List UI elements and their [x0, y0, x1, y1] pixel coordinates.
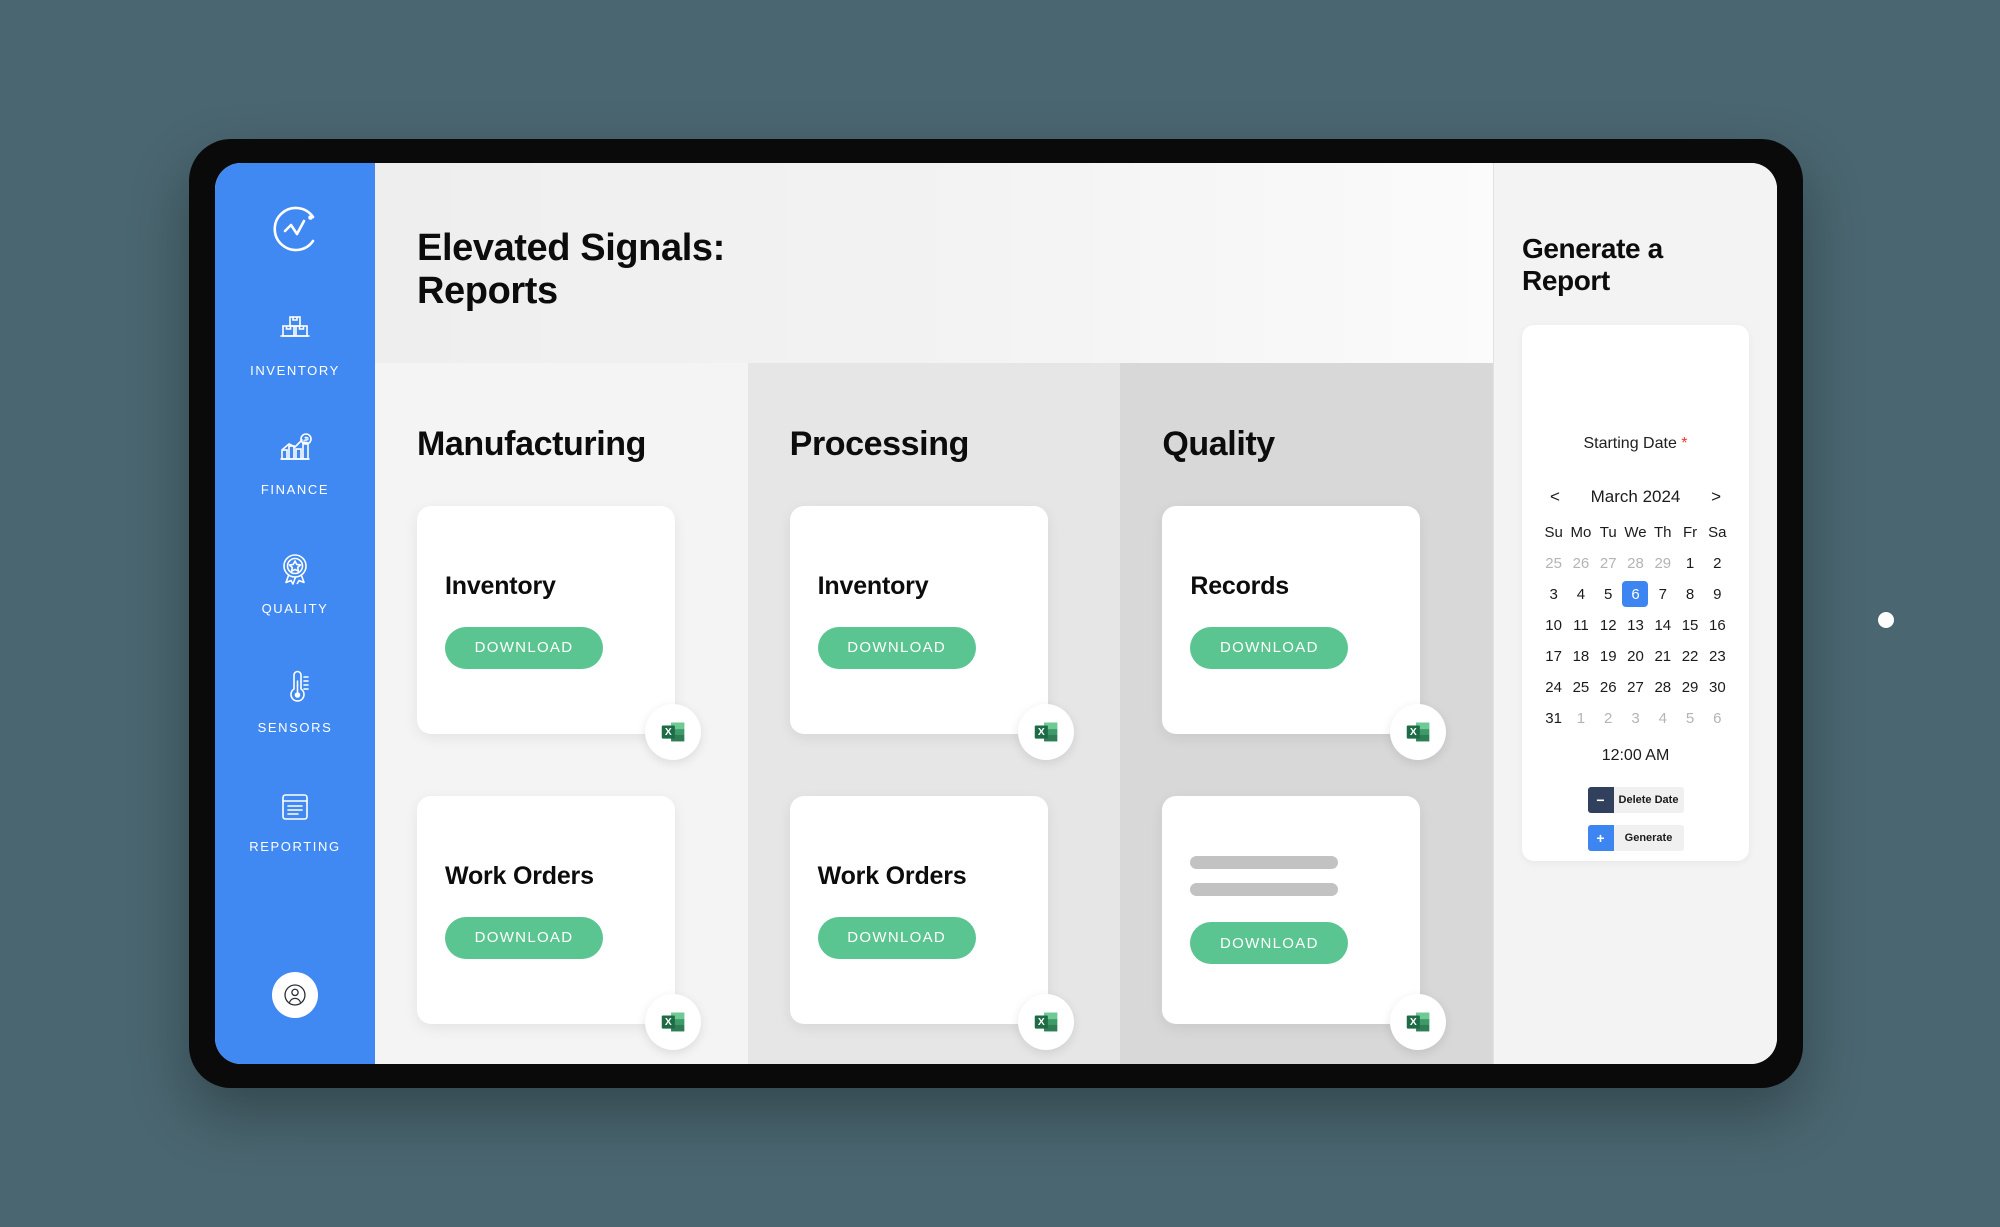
excel-file-icon[interactable]: X: [1390, 704, 1446, 760]
day-of-week-header: Mo: [1567, 519, 1594, 545]
calendar-day[interactable]: 18: [1567, 643, 1594, 669]
report-card-work-orders[interactable]: Work Orders DOWNLOAD: [790, 796, 1048, 1024]
report-card-records[interactable]: Records DOWNLOAD: [1162, 506, 1420, 734]
day-of-week-header: Fr: [1676, 519, 1703, 545]
calendar-day[interactable]: 3: [1622, 705, 1649, 731]
svg-text:X: X: [665, 1017, 672, 1028]
boxes-icon: [273, 309, 317, 353]
minus-icon: −: [1588, 787, 1614, 813]
calendar-day[interactable]: 5: [1595, 581, 1622, 607]
excel-file-icon[interactable]: X: [1018, 704, 1074, 760]
sidebar-item-sensors[interactable]: SENSORS: [215, 666, 375, 735]
document-lines-icon: [273, 785, 317, 829]
excel-file-icon[interactable]: X: [645, 704, 701, 760]
column-manufacturing: Manufacturing Inventory DOWNLOAD: [375, 363, 748, 1064]
download-button[interactable]: DOWNLOAD: [818, 917, 976, 959]
svg-text:X: X: [1410, 727, 1417, 738]
calendar-grid: Su Mo Tu We Th Fr Sa 25 26 27 28: [1540, 519, 1731, 731]
calendar-day[interactable]: 27: [1595, 550, 1622, 576]
required-marker: *: [1681, 435, 1687, 452]
download-button[interactable]: DOWNLOAD: [1190, 922, 1348, 964]
calendar-day[interactable]: 24: [1540, 674, 1567, 700]
plus-icon: +: [1588, 825, 1614, 851]
calendar-day[interactable]: 6: [1704, 705, 1731, 731]
card-title: Work Orders: [445, 862, 647, 891]
screen: INVENTORY: [0, 0, 2000, 1227]
report-card-inventory[interactable]: Inventory DOWNLOAD: [417, 506, 675, 734]
calendar-day[interactable]: 5: [1676, 705, 1703, 731]
excel-file-icon[interactable]: X: [1390, 994, 1446, 1050]
download-button[interactable]: DOWNLOAD: [818, 627, 976, 669]
day-of-week-header: Th: [1649, 519, 1676, 545]
calendar-day[interactable]: 26: [1595, 674, 1622, 700]
sidebar-item-label: REPORTING: [249, 839, 340, 854]
column-processing: Processing Inventory DOWNLOAD: [748, 363, 1121, 1064]
calendar-day[interactable]: 31: [1540, 705, 1567, 731]
page-title: Elevated Signals: Reports: [417, 227, 837, 312]
sidebar: INVENTORY: [215, 163, 375, 1064]
calendar-day[interactable]: 28: [1622, 550, 1649, 576]
finance-chart-icon: [273, 428, 317, 472]
generate-report-panel: Generate a Report Starting Date * < Marc…: [1493, 163, 1777, 1064]
day-of-week-header: Su: [1540, 519, 1567, 545]
generate-button[interactable]: + Generate: [1588, 825, 1684, 851]
calendar-day[interactable]: 30: [1704, 674, 1731, 700]
calendar-day[interactable]: 12: [1595, 612, 1622, 638]
reports-area: Elevated Signals: Reports Manufacturing …: [375, 163, 1493, 1064]
day-of-week-header: We: [1622, 519, 1649, 545]
calendar-day[interactable]: 4: [1567, 581, 1594, 607]
calendar-day[interactable]: 29: [1649, 550, 1676, 576]
page-header: Elevated Signals: Reports: [375, 163, 1493, 363]
calendar-day[interactable]: 23: [1704, 643, 1731, 669]
svg-text:X: X: [1410, 1017, 1417, 1028]
calendar-day[interactable]: 3: [1540, 581, 1567, 607]
card-title: Inventory: [445, 572, 647, 601]
column-title: Quality: [1162, 425, 1493, 464]
report-card-work-orders[interactable]: Work Orders DOWNLOAD: [417, 796, 675, 1024]
column-quality: Quality Records DOWNLOAD: [1120, 363, 1493, 1064]
placeholder-bar: [1190, 883, 1338, 896]
day-of-week-header: Tu: [1595, 519, 1622, 545]
page-title-line1: Elevated Signals:: [417, 227, 725, 269]
calendar-header: < March 2024 >: [1540, 485, 1731, 509]
sidebar-item-inventory[interactable]: INVENTORY: [215, 309, 375, 378]
sidebar-item-label: FINANCE: [261, 482, 329, 497]
starting-date-label-text: Starting Date: [1583, 435, 1676, 452]
sidebar-item-label: SENSORS: [258, 720, 333, 735]
elevated-signals-logo[interactable]: [267, 201, 323, 257]
user-avatar-icon: [282, 982, 308, 1008]
content-area: Elevated Signals: Reports Manufacturing …: [375, 163, 1777, 1064]
calendar-day[interactable]: 29: [1676, 674, 1703, 700]
report-columns: Manufacturing Inventory DOWNLOAD: [375, 363, 1493, 1064]
calendar-day[interactable]: 16: [1704, 612, 1731, 638]
sidebar-item-label: INVENTORY: [250, 363, 340, 378]
loading-placeholder: [1190, 856, 1392, 896]
card-title: Inventory: [818, 572, 1020, 601]
svg-text:X: X: [665, 727, 672, 738]
calendar-day[interactable]: 27: [1622, 674, 1649, 700]
calendar-month-label: March 2024: [1591, 487, 1681, 507]
download-button[interactable]: DOWNLOAD: [445, 627, 603, 669]
thermometer-icon: [273, 666, 317, 710]
calendar-day[interactable]: 7: [1649, 581, 1676, 607]
calendar-day[interactable]: 10: [1540, 612, 1567, 638]
svg-text:X: X: [1038, 1017, 1045, 1028]
card-title: Work Orders: [818, 862, 1020, 891]
sidebar-item-finance[interactable]: FINANCE: [215, 428, 375, 497]
calendar-day[interactable]: 22: [1676, 643, 1703, 669]
card-title: Records: [1190, 572, 1392, 601]
download-button[interactable]: DOWNLOAD: [445, 917, 603, 959]
calendar-day[interactable]: 8: [1676, 581, 1703, 607]
page-title-line2: Reports: [417, 270, 558, 312]
calendar-day[interactable]: 19: [1595, 643, 1622, 669]
calendar-day[interactable]: 20: [1622, 643, 1649, 669]
prev-month-button[interactable]: <: [1544, 485, 1566, 509]
download-button[interactable]: DOWNLOAD: [1190, 627, 1348, 669]
date-picker-widget: Starting Date * < March 2024 > Su Mo: [1522, 325, 1749, 861]
calendar-day[interactable]: 14: [1649, 612, 1676, 638]
calendar-day[interactable]: 17: [1540, 643, 1567, 669]
tablet-screen: INVENTORY: [215, 163, 1777, 1064]
calendar-day[interactable]: 26: [1567, 550, 1594, 576]
day-of-week-header: Sa: [1704, 519, 1731, 545]
sidebar-item-quality[interactable]: QUALITY: [215, 547, 375, 616]
calendar-day[interactable]: 13: [1622, 612, 1649, 638]
column-title: Processing: [790, 425, 1121, 464]
calendar-day[interactable]: 28: [1649, 674, 1676, 700]
next-month-button[interactable]: >: [1705, 485, 1727, 509]
placeholder-bar: [1190, 856, 1338, 869]
calendar-day[interactable]: 21: [1649, 643, 1676, 669]
generate-label: Generate: [1614, 825, 1684, 851]
tablet-camera-dot: [1878, 612, 1894, 628]
calendar-day-selected[interactable]: 6: [1622, 581, 1648, 607]
calendar-day[interactable]: 25: [1567, 674, 1594, 700]
calendar-day[interactable]: 15: [1676, 612, 1703, 638]
starting-date-label: Starting Date *: [1540, 435, 1731, 453]
calendar-day[interactable]: 1: [1676, 550, 1703, 576]
report-card-loading[interactable]: DOWNLOAD X: [1162, 796, 1420, 1024]
calendar-day[interactable]: 2: [1704, 550, 1731, 576]
calendar-day[interactable]: 4: [1649, 705, 1676, 731]
sidebar-item-label: QUALITY: [262, 601, 329, 616]
excel-file-icon[interactable]: X: [645, 994, 701, 1050]
calendar-day[interactable]: 25: [1540, 550, 1567, 576]
calendar-day[interactable]: 9: [1704, 581, 1731, 607]
delete-date-button[interactable]: − Delete Date: [1588, 787, 1684, 813]
content-main: Elevated Signals: Reports Manufacturing …: [375, 163, 1777, 1064]
calendar-day[interactable]: 1: [1567, 705, 1594, 731]
calendar-day[interactable]: 11: [1567, 612, 1594, 638]
panel-title: Generate a Report: [1522, 233, 1749, 297]
excel-file-icon[interactable]: X: [1018, 994, 1074, 1050]
column-title: Manufacturing: [417, 425, 748, 464]
calendar-day[interactable]: 2: [1595, 705, 1622, 731]
award-ribbon-icon: [273, 547, 317, 591]
tablet-frame: INVENTORY: [189, 139, 1803, 1088]
delete-date-label: Delete Date: [1614, 787, 1684, 813]
sidebar-item-reporting[interactable]: REPORTING: [215, 785, 375, 854]
time-value[interactable]: 12:00 AM: [1540, 747, 1731, 765]
report-card-inventory[interactable]: Inventory DOWNLOAD: [790, 506, 1048, 734]
svg-text:X: X: [1038, 727, 1045, 738]
avatar[interactable]: [272, 972, 318, 1018]
